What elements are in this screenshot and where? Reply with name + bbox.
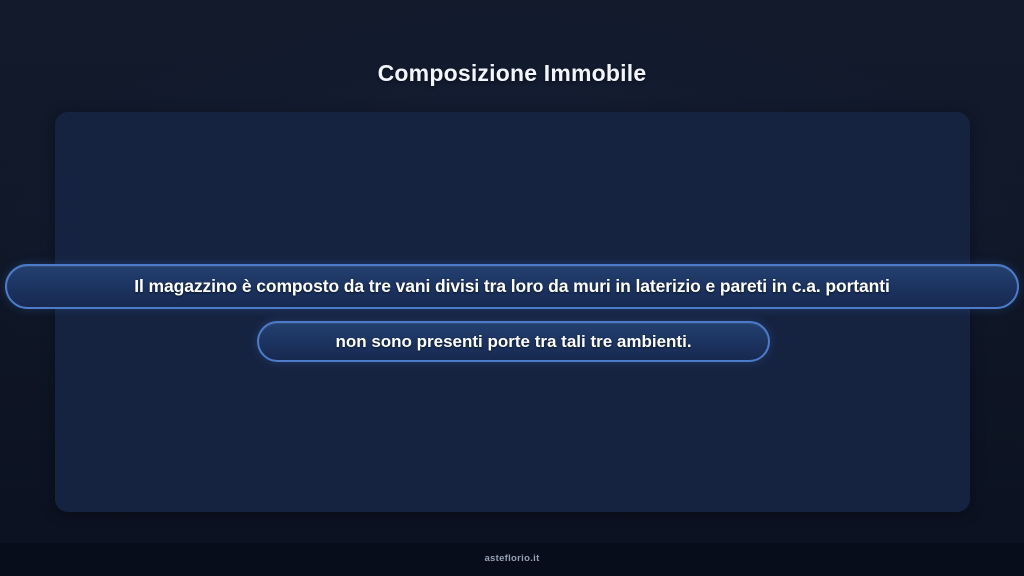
statement-pill-composizione: Il magazzino è composto da tre vani divi… (5, 264, 1019, 309)
slide-canvas: Composizione Immobile Il magazzino è com… (0, 0, 1024, 576)
statement-pill-text: Il magazzino è composto da tre vani divi… (134, 276, 890, 297)
page-title: Composizione Immobile (0, 60, 1024, 87)
footer-watermark: asteflorio.it (0, 553, 1024, 564)
statement-pill-text: non sono presenti porte tra tali tre amb… (335, 332, 691, 352)
statement-pill-porte: non sono presenti porte tra tali tre amb… (257, 321, 770, 362)
